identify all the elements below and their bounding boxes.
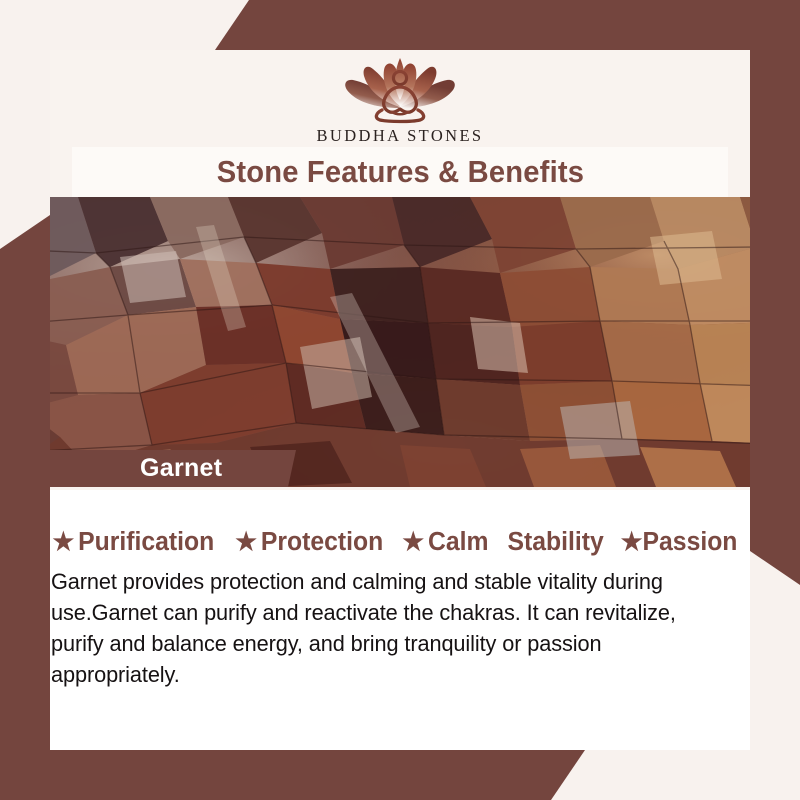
star-icon: ★ xyxy=(403,530,425,555)
description-panel: ★ Purification ★ Protection ★ Calm Stabi… xyxy=(50,490,750,750)
benefit-stability: Stability xyxy=(507,528,603,557)
benefit-label: Protection xyxy=(261,528,383,557)
star-icon: ★ xyxy=(235,530,257,555)
benefits-row: ★ Purification ★ Protection ★ Calm Stabi… xyxy=(50,528,750,557)
brand-logo-block: BUDDHA STONES xyxy=(50,50,750,147)
content-card: BUDDHA STONES Stone Features & Benefits xyxy=(50,50,750,750)
frame-band-left xyxy=(0,215,50,800)
stone-description: Garnet provides protection and calming a… xyxy=(51,566,730,690)
star-icon: ★ xyxy=(53,530,75,555)
benefit-label: Stability xyxy=(507,528,603,557)
benefit-label: Passion xyxy=(643,528,738,557)
benefit-protection: ★ Protection xyxy=(235,528,383,557)
frame-band-top xyxy=(215,0,800,50)
benefit-passion: ★ Passion xyxy=(621,528,738,557)
star-icon: ★ xyxy=(621,530,643,555)
brand-name: BUDDHA STONES xyxy=(316,126,483,146)
page-title: Stone Features & Benefits xyxy=(216,154,583,190)
frame-band-bottom xyxy=(0,750,585,800)
stone-name-banner: Garnet xyxy=(50,450,296,487)
benefit-calm: ★ Calm xyxy=(403,528,489,557)
infographic-page: BUDDHA STONES Stone Features & Benefits xyxy=(0,0,800,800)
benefit-purification: ★ Purification xyxy=(53,528,215,557)
lotus-meditation-icon xyxy=(316,50,484,124)
title-banner: Stone Features & Benefits xyxy=(72,147,728,197)
benefit-label: Purification xyxy=(78,528,214,557)
stone-name: Garnet xyxy=(140,454,222,483)
garnet-crystals-image xyxy=(50,197,750,487)
frame-band-right xyxy=(750,0,800,585)
benefit-label: Calm xyxy=(428,528,488,557)
stone-photo xyxy=(50,197,750,487)
